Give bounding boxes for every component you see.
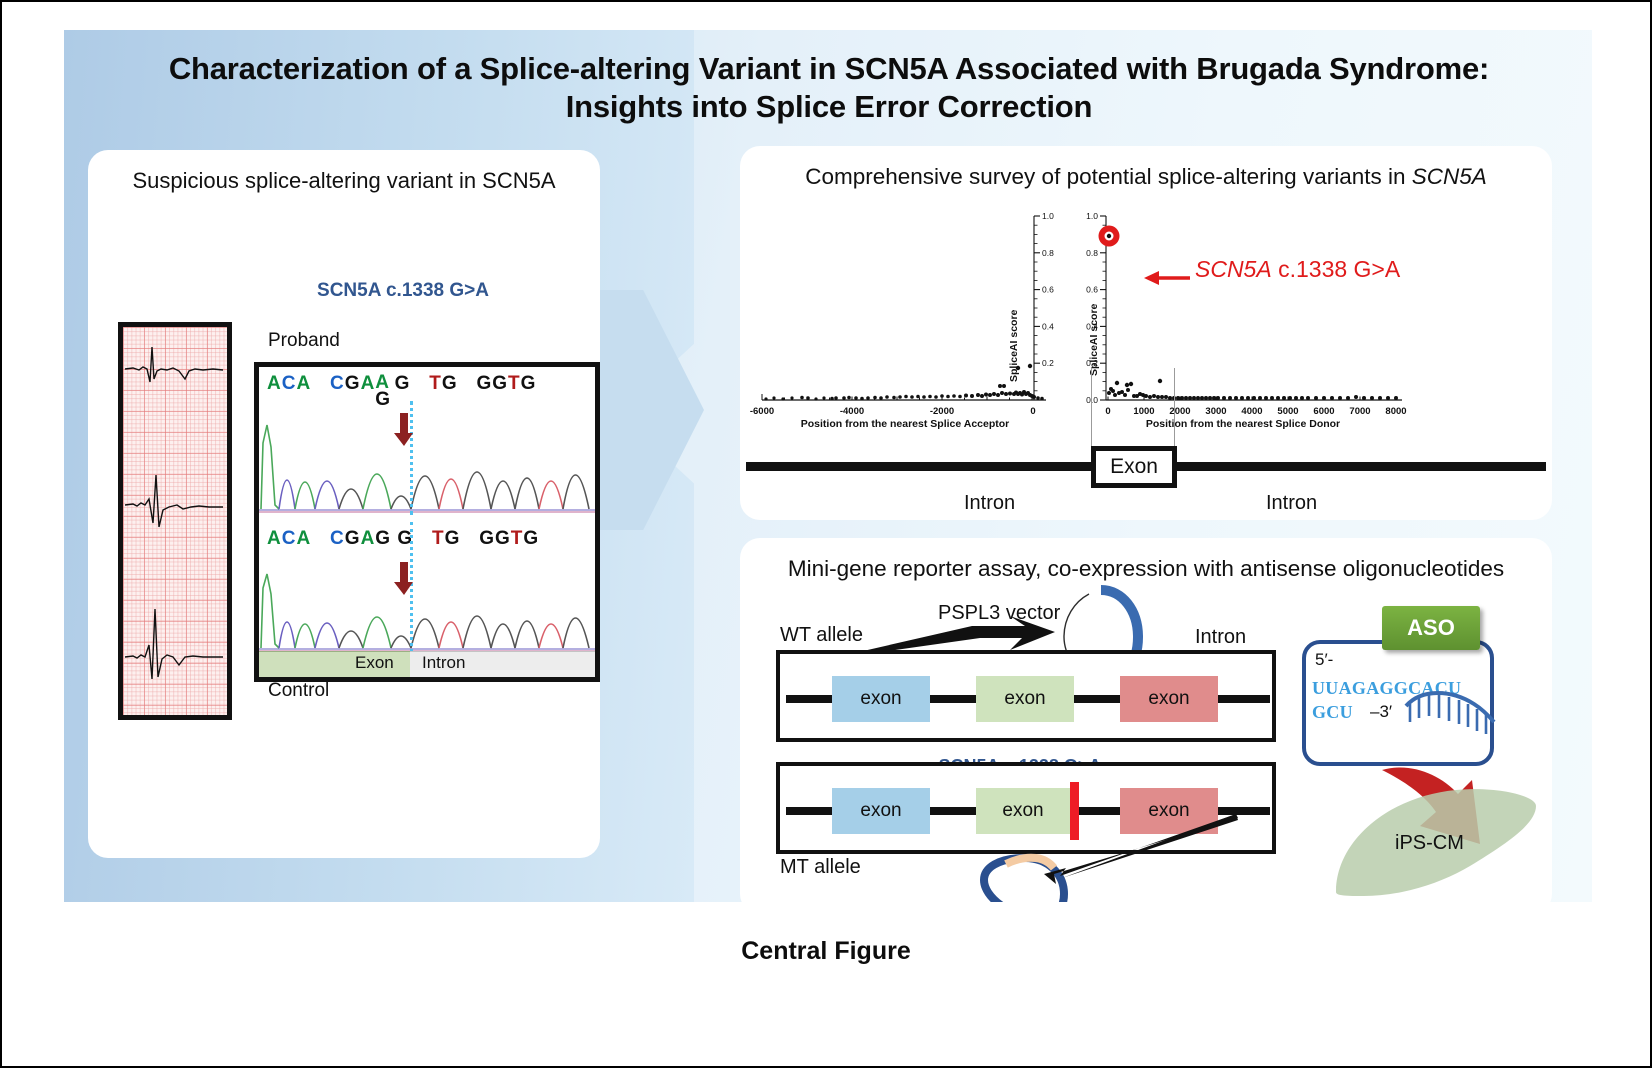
aso-tag: ASO bbox=[1382, 606, 1480, 650]
donor-x-axis-label: Position from the nearest Splice Donor bbox=[1078, 418, 1408, 430]
variant-label: SCN5A c.1338 G>A bbox=[238, 280, 568, 302]
callout-arrow-icon bbox=[1144, 268, 1192, 288]
svg-text:-4000: -4000 bbox=[840, 406, 864, 417]
ecg-strip bbox=[118, 322, 232, 720]
control-label: Control bbox=[268, 680, 329, 702]
control-sequence: ACA CGAG G TG GGTG bbox=[267, 528, 600, 550]
exon-box: Exon bbox=[1091, 446, 1177, 488]
intron-line-left bbox=[746, 462, 1094, 471]
ips-cm-label: iPS-CM bbox=[1395, 832, 1464, 855]
aso-sequence-line-2: GCU bbox=[1312, 702, 1353, 723]
svg-text:2000: 2000 bbox=[1169, 406, 1190, 417]
svg-text:7000: 7000 bbox=[1349, 406, 1370, 417]
spliceai-scatter-plots: 1.0 0.8 0.6 0.4 0.2 bbox=[740, 204, 1552, 464]
page-title: Characterization of a Splice-altering Va… bbox=[104, 50, 1554, 127]
svg-text:0: 0 bbox=[1105, 406, 1110, 417]
intron-label-left: Intron bbox=[964, 492, 1015, 515]
intron-line-right bbox=[1174, 462, 1546, 471]
variant-arrow-control bbox=[393, 562, 415, 596]
svg-text:0.8: 0.8 bbox=[1086, 248, 1098, 258]
title-line-1: Characterization of a Splice-altering Va… bbox=[104, 50, 1554, 88]
svg-text:1.0: 1.0 bbox=[1042, 211, 1054, 221]
svg-text:1.0: 1.0 bbox=[1086, 211, 1098, 221]
svg-text:0.4: 0.4 bbox=[1042, 321, 1054, 331]
svg-text:-6000: -6000 bbox=[750, 406, 774, 417]
wt-exon-3: exon bbox=[1120, 676, 1218, 722]
aso-duplex-icon bbox=[1404, 688, 1496, 734]
panel-tr-title-gene: SCN5A bbox=[1412, 164, 1487, 189]
variant-arrow-proband bbox=[393, 413, 415, 447]
title-line-2: Insights into Splice Error Correction bbox=[104, 88, 1554, 126]
svg-text:0.0: 0.0 bbox=[1086, 395, 1098, 405]
svg-text:-2000: -2000 bbox=[930, 406, 954, 417]
mt-allele-label: MT allele bbox=[780, 856, 861, 879]
control-trace bbox=[259, 566, 595, 652]
central-figure-root: Characterization of a Splice-altering Va… bbox=[0, 0, 1652, 1068]
exon-bar-label: Exon bbox=[355, 653, 394, 673]
wt-exon-1: exon bbox=[832, 676, 930, 722]
proband-sequence: ACA CGAAG G TG GGTG bbox=[267, 373, 600, 395]
chromatogram-control: ACA CGAG G TG GGTG bbox=[259, 522, 595, 677]
donor-plot-svg: 1.0 0.8 0.6 0.4 0.2 0.0 bbox=[1078, 204, 1408, 439]
svg-text:0.6: 0.6 bbox=[1042, 285, 1054, 295]
mt-line-2 bbox=[930, 807, 976, 815]
wt-allele-construct: exon exon exon bbox=[776, 650, 1276, 742]
svg-text:1000: 1000 bbox=[1133, 406, 1154, 417]
panel-tr-title: Comprehensive survey of potential splice… bbox=[740, 164, 1552, 190]
panel-br-title: Mini-gene reporter assay, co-expression … bbox=[740, 556, 1552, 582]
exon-intron-bar: Exon Intron bbox=[259, 651, 595, 677]
donor-y-axis-label: SpliceAI score bbox=[1088, 304, 1100, 376]
svg-text:3000: 3000 bbox=[1205, 406, 1226, 417]
mt-connector-line bbox=[1040, 812, 1240, 888]
wt-line-4 bbox=[1218, 695, 1270, 703]
callout-rest: c.1338 G>A bbox=[1272, 256, 1401, 282]
wt-line-2 bbox=[930, 695, 976, 703]
callout-gene: SCN5A bbox=[1195, 256, 1272, 282]
scatter-plot-donor: 1.0 0.8 0.6 0.4 0.2 0.0 bbox=[1078, 204, 1408, 439]
chromatogram-proband: ACA CGAAG G TG GGTG bbox=[259, 367, 595, 522]
svg-text:0.6: 0.6 bbox=[1086, 285, 1098, 295]
aso-five-prime-label: 5′- bbox=[1315, 650, 1333, 670]
svg-text:0.8: 0.8 bbox=[1042, 248, 1054, 258]
intron-label-minigene: Intron bbox=[1195, 626, 1246, 649]
variant-callout-label: SCN5A c.1338 G>A bbox=[1195, 256, 1400, 283]
svg-text:4000: 4000 bbox=[1241, 406, 1262, 417]
proband-trace bbox=[259, 413, 595, 513]
highlighted-variant-point bbox=[1099, 226, 1120, 247]
intron-bar-label: Intron bbox=[422, 653, 465, 673]
acceptor-y-axis-label: SpliceAI score bbox=[1008, 310, 1020, 382]
svg-text:5000: 5000 bbox=[1277, 406, 1298, 417]
svg-text:0.2: 0.2 bbox=[1042, 358, 1054, 368]
panel-minigene-assay: Mini-gene reporter assay, co-expression … bbox=[740, 538, 1552, 902]
svg-text:0: 0 bbox=[1030, 406, 1035, 417]
scatter-plot-acceptor: 1.0 0.8 0.6 0.4 0.2 bbox=[746, 204, 1064, 439]
guide-line-donor bbox=[1174, 368, 1175, 446]
svg-text:6000: 6000 bbox=[1313, 406, 1334, 417]
intron-label-right: Intron bbox=[1266, 492, 1317, 515]
panel-tr-title-prefix: Comprehensive survey of potential splice… bbox=[805, 164, 1412, 189]
sanger-chromatogram: ACA CGAAG G TG GGTG bbox=[254, 362, 600, 682]
wt-line-3 bbox=[1074, 695, 1120, 703]
proband-label: Proband bbox=[268, 330, 340, 352]
gene-schematic: Exon Intron Intron bbox=[746, 446, 1546, 516]
svg-text:8000: 8000 bbox=[1385, 406, 1406, 417]
ecg-waveform bbox=[123, 327, 227, 715]
acceptor-x-axis-label: Position from the nearest Splice Accepto… bbox=[746, 418, 1064, 430]
mt-line-1 bbox=[786, 807, 832, 815]
mt-exon-1: exon bbox=[832, 788, 930, 834]
poster-background: Characterization of a Splice-altering Va… bbox=[64, 30, 1592, 902]
minigene-diagram: PSPL3 vector WT allele exon exon bbox=[740, 584, 1552, 902]
guide-line-acceptor bbox=[1091, 368, 1092, 446]
aso-three-prime-label: –3′ bbox=[1370, 702, 1392, 722]
panel-left-title: Suspicious splice-altering variant in SC… bbox=[88, 168, 600, 194]
wt-line-1 bbox=[786, 695, 832, 703]
figure-caption: Central Figure bbox=[2, 937, 1650, 966]
wt-exon-2: exon bbox=[976, 676, 1074, 722]
panel-suspicious-variant: Suspicious splice-altering variant in SC… bbox=[88, 150, 600, 858]
panel-comprehensive-survey: Comprehensive survey of potential splice… bbox=[740, 146, 1552, 520]
